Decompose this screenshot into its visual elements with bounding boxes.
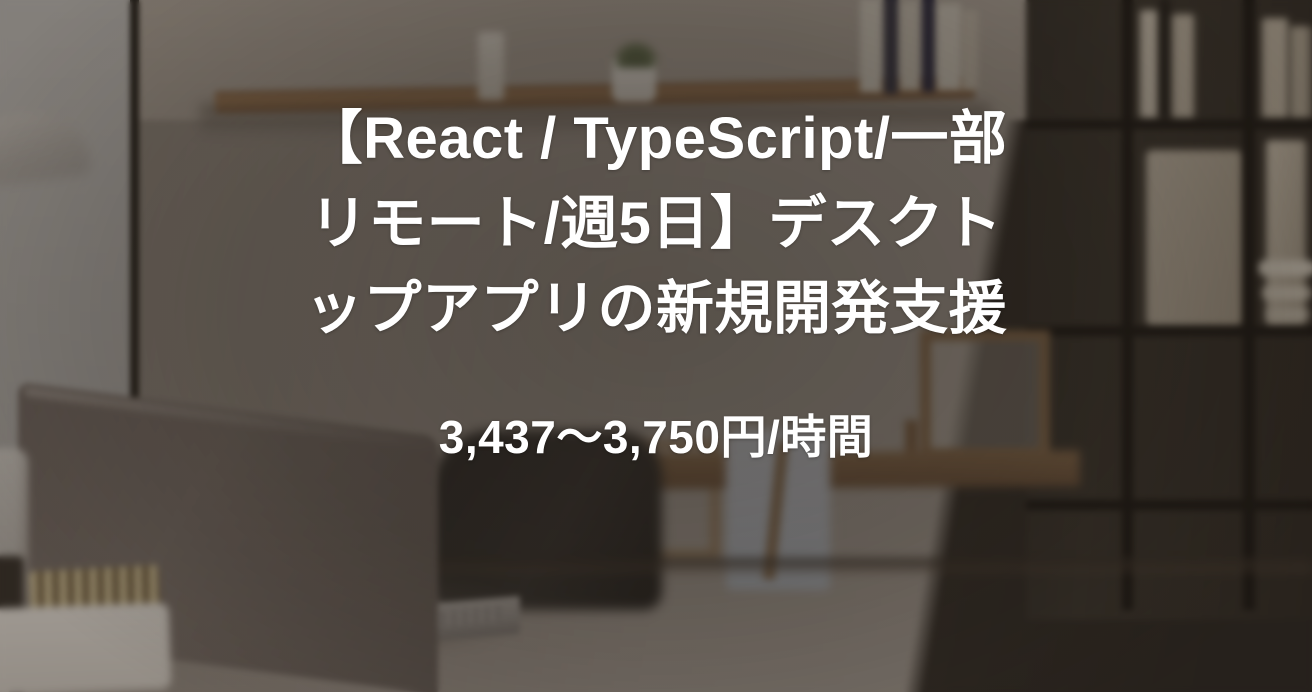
job-posting-banner: 【React / TypeScript/一部リモート/週5日】デスクトップアプリ…	[0, 0, 1312, 692]
banner-content: 【React / TypeScript/一部リモート/週5日】デスクトップアプリ…	[0, 0, 1312, 692]
hourly-rate: 3,437〜3,750円/時間	[439, 409, 874, 465]
job-title: 【React / TypeScript/一部リモート/週5日】デスクトップアプリ…	[286, 96, 1026, 351]
